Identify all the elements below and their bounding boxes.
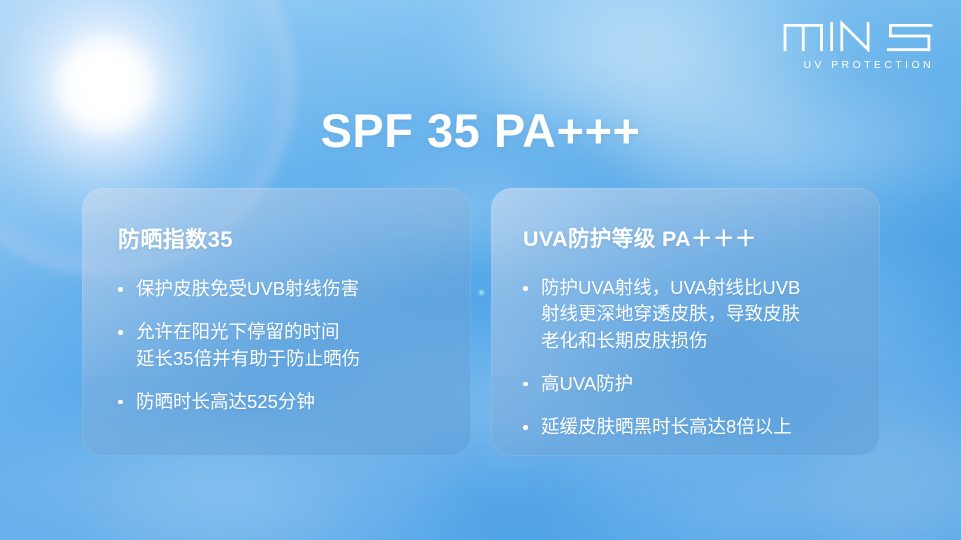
list-item: 防晒时长高达525分钟 <box>82 389 471 415</box>
bullet-dot-icon <box>118 287 123 292</box>
sparkle-dot-icon <box>479 290 484 295</box>
pa-card-heading: UVA防护等级 PA＋＋＋ <box>523 222 880 253</box>
page-title: SPF 35 PA+++ <box>0 103 961 158</box>
brand-logo: UV PROTECTION <box>780 20 935 71</box>
mins-wordmark-icon <box>783 20 935 52</box>
list-item-text: 防晒时长高达525分钟 <box>136 389 471 415</box>
spf-card-heading: 防晒指数35 <box>118 222 471 254</box>
brand-tagline: UV PROTECTION <box>780 59 935 71</box>
bullet-dot-icon <box>523 382 528 387</box>
bullet-dot-icon <box>118 330 123 335</box>
feature-card-group: 防晒指数35 保护皮肤免受UVB射线伤害 允许在阳光下停留的时间 延长35倍并有… <box>82 188 880 456</box>
list-item: 高UVA防护 <box>491 371 880 397</box>
list-item-text: 保护皮肤免受UVB射线伤害 <box>136 276 471 302</box>
list-item: 保护皮肤免受UVB射线伤害 <box>82 276 471 302</box>
bullet-dot-icon <box>523 425 528 430</box>
list-item-text: 防护UVA射线，UVA射线比UVB 射线更深地穿透皮肤，导致皮肤 老化和长期皮肤… <box>541 275 870 354</box>
list-item: 允许在阳光下停留的时间 延长35倍并有助于防止晒伤 <box>82 319 471 372</box>
spf-card-bullet-list: 保护皮肤免受UVB射线伤害 允许在阳光下停留的时间 延长35倍并有助于防止晒伤 … <box>82 276 471 415</box>
list-item-text: 高UVA防护 <box>541 371 870 397</box>
list-item-text: 延缓皮肤晒黑时长高达8倍以上 <box>541 414 870 440</box>
list-item: 防护UVA射线，UVA射线比UVB 射线更深地穿透皮肤，导致皮肤 老化和长期皮肤… <box>491 275 880 354</box>
list-item-text: 允许在阳光下停留的时间 延长35倍并有助于防止晒伤 <box>136 319 471 372</box>
slide-canvas: UV PROTECTION SPF 35 PA+++ 防晒指数35 保护皮肤免受… <box>0 0 961 540</box>
list-item: 延缓皮肤晒黑时长高达8倍以上 <box>491 414 880 440</box>
pa-feature-card: UVA防护等级 PA＋＋＋ 防护UVA射线，UVA射线比UVB 射线更深地穿透皮… <box>491 188 880 456</box>
pa-card-bullet-list: 防护UVA射线，UVA射线比UVB 射线更深地穿透皮肤，导致皮肤 老化和长期皮肤… <box>491 275 880 440</box>
spf-feature-card: 防晒指数35 保护皮肤免受UVB射线伤害 允许在阳光下停留的时间 延长35倍并有… <box>82 188 471 456</box>
bullet-dot-icon <box>118 400 123 405</box>
bullet-dot-icon <box>523 286 528 291</box>
